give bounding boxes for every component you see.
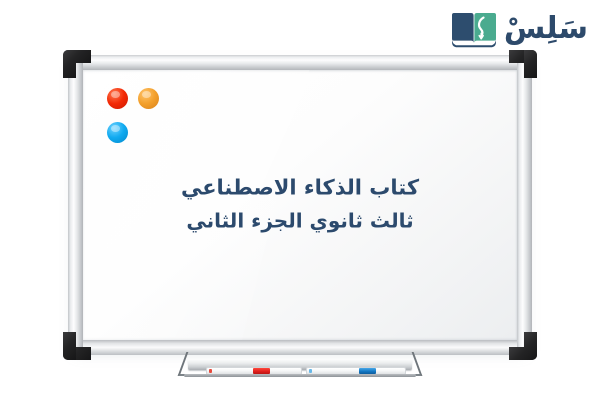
board-text-block: كتاب الذكاء الاصطناعي ثالث ثانوي الجزء ا… <box>83 170 517 236</box>
open-book-icon <box>451 9 497 49</box>
frame-rail-top <box>68 55 532 70</box>
marker-tray <box>182 352 418 378</box>
board-body: كتاب الذكاء الاصطناعي ثالث ثانوي الجزء ا… <box>68 55 532 355</box>
tray-base <box>184 374 416 377</box>
board-title-line-2: ثالث ثانوي الجزء الثاني <box>109 204 491 236</box>
magnet-group <box>107 88 179 150</box>
whiteboard: كتاب الذكاء الاصطناعي ثالث ثانوي الجزء ا… <box>68 55 532 355</box>
corner-bracket-bottom-left <box>63 332 91 360</box>
red-marker-tip <box>209 369 212 373</box>
board-surface[interactable]: كتاب الذكاء الاصطناعي ثالث ثانوي الجزء ا… <box>83 70 517 340</box>
red-magnet[interactable] <box>107 88 128 109</box>
corner-bracket-top-left <box>63 50 91 78</box>
blue-marker-tip <box>309 369 312 373</box>
frame-rail-left <box>68 55 83 355</box>
corner-bracket-top-right <box>509 50 537 78</box>
brand-wordmark: سَلِسْ <box>504 14 588 44</box>
blue-magnet[interactable] <box>107 122 128 143</box>
frame-rail-right <box>517 55 532 355</box>
brand-logo[interactable]: سَلِسْ <box>451 5 588 53</box>
corner-bracket-bottom-right <box>509 332 537 360</box>
orange-magnet[interactable] <box>138 88 159 109</box>
tray-shelf <box>188 359 412 370</box>
board-title-line-1: كتاب الذكاء الاصطناعي <box>109 170 491 204</box>
